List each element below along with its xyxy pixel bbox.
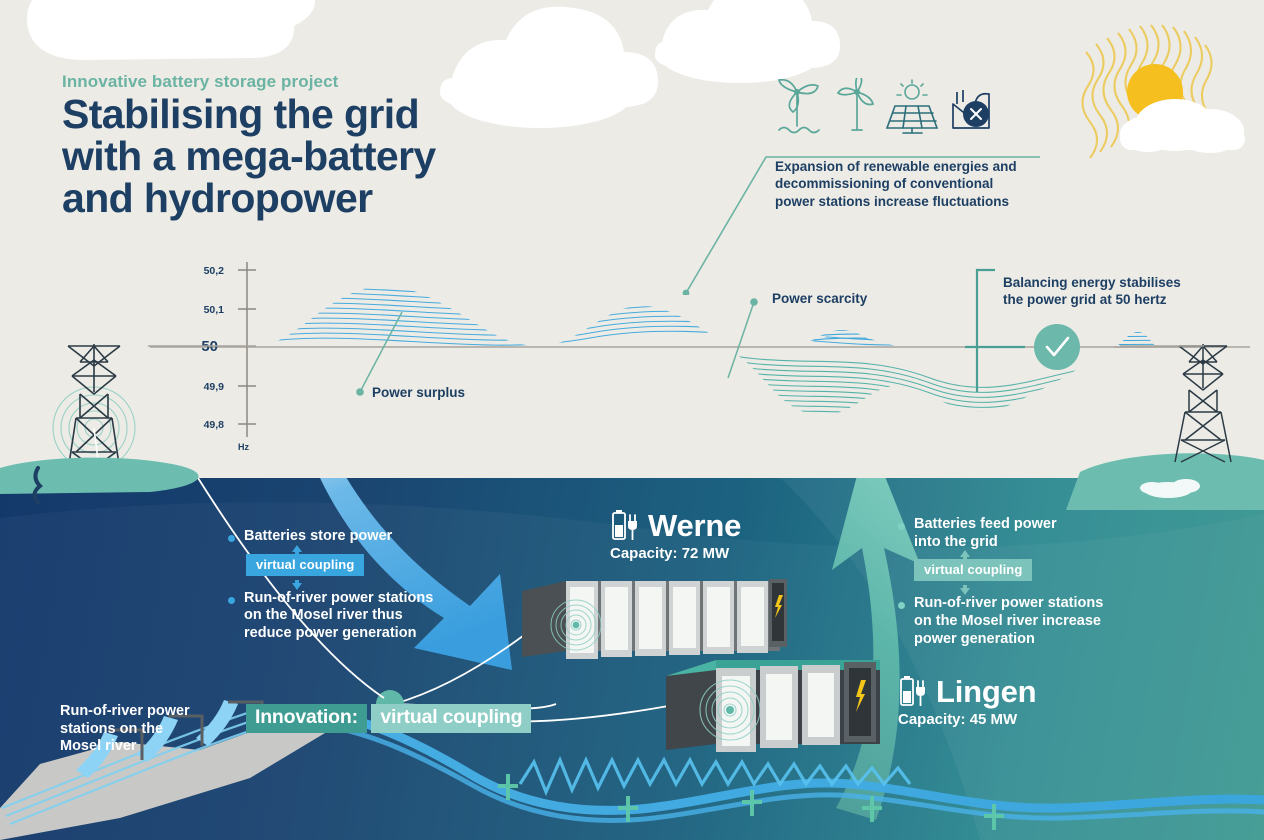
list-item: Batteries feed power into the grid [898,516,1138,551]
bullet-dot [228,535,235,542]
y-tick-50-2: 50,2 [178,265,224,277]
bullet-dot [898,523,905,530]
site-name-werne: Werne [648,508,741,544]
power-line-right [1120,338,1210,354]
innovation-badge: Innovation: virtual coupling [246,702,531,733]
infographic-canvas: Expansion of renewable energies and deco… [0,0,1264,840]
check-circle [1034,324,1080,370]
arrow-down-icon [290,580,304,590]
lingen-modules [700,665,840,752]
transmission-pylon-right [1155,336,1255,466]
power-plant-decommissioned-icon [953,90,989,128]
list-item: Run-of-river power stations on the Mosel… [898,595,1138,648]
virtual-coupling-badge-right: virtual coupling [914,559,1032,581]
lingen-label-group: Lingen Capacity: 45 MW [898,674,1036,728]
arrow-up-icon [958,550,972,560]
page-title: Stabilising the grid with a mega-battery… [62,94,436,219]
list-item: Batteries store power [228,528,458,546]
left-bullet-1: Batteries store power [244,528,392,546]
arrow-up-icon [290,545,304,555]
right-bullet-panel: Batteries feed power into the grid virtu… [898,516,1138,648]
power-scarcity-label: Power scarcity [772,291,867,306]
site-capacity-werne: Capacity: 72 MW [610,545,741,562]
right-bullet-1: Batteries feed power into the grid [914,516,1057,551]
energy-icons-row [775,78,990,138]
y-tick-49-9: 49,9 [178,381,224,393]
power-scarcity-dot [750,298,758,306]
list-item: Run-of-river power stations on the Mosel… [228,590,458,643]
bullet-dot [898,602,905,609]
virtual-coupling-badge-left: virtual coupling [246,554,364,576]
right-bullet-2: Run-of-river power stations on the Mosel… [914,595,1103,648]
kicker-text: Innovative battery storage project [62,72,338,92]
water-scene: Werne Capacity: 72 MW [0,478,1264,840]
innovation-title: Innovation: [246,704,367,733]
run-of-river-label: Run-of-river power stations on the Mosel… [60,703,250,756]
callout-balancing: Balancing energy stabilises the power gr… [1003,274,1213,309]
bullet-dot [228,597,235,604]
lingen-battery-container [662,650,887,760]
wind-turbine-icon [838,78,873,130]
site-capacity-lingen: Capacity: 45 MW [898,711,1036,728]
left-bullet-2: Run-of-river power stations on the Mosel… [244,590,433,643]
power-surplus-dot [356,388,364,396]
callout-fluctuations: Expansion of renewable energies and deco… [775,158,1055,210]
innovation-subtitle: virtual coupling [371,704,531,733]
arrow-down-icon [958,585,972,595]
battery-charging-icon [898,675,926,709]
werne-label-group: Werne Capacity: 72 MW [610,508,741,562]
solar-panel-icon [887,80,937,133]
power-surplus-label: Power surplus [372,385,465,400]
y-tick-50-1: 50,1 [178,304,224,316]
site-name-lingen: Lingen [936,674,1036,710]
battery-charging-icon [610,509,638,543]
offshore-wind-turbine-icon [779,80,819,133]
power-line-left [148,338,268,354]
left-bullet-panel: Batteries store power virtual coupling R… [228,528,458,643]
